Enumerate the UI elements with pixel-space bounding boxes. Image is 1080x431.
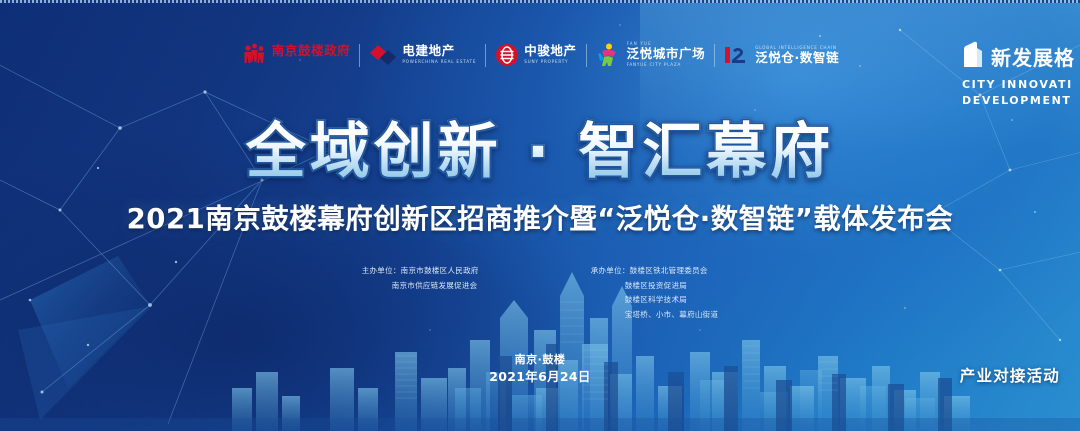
brand-label-cn: 新发展格 — [991, 42, 1075, 71]
logo-label-en: GLOBAL INTELLIGENCE CHAIN — [755, 46, 839, 50]
logo-label-en: NANJING GULOU DISTRICT — [272, 60, 351, 64]
sponsor-logo-bar: 南京鼓楼政府 NANJING GULOU DISTRICT 电建地产 POWER… — [0, 42, 1080, 68]
brand-city-innovation[interactable]: 新发展格 CITY INNOVATI DEVELOPMENT — [962, 40, 1080, 107]
logo-zhongjun[interactable]: 中骏地产 SUNY PROPERTY — [486, 43, 585, 67]
organizer-line: 鼓楼区投资促进局 — [591, 279, 719, 294]
top-edge-strip — [0, 0, 1080, 3]
event-date: 2021年6月24日 — [0, 368, 1080, 386]
logo-label-en: SUNY PROPERTY — [524, 60, 576, 64]
organizer-line: 鼓楼区科学技术局 — [591, 293, 719, 308]
logo-label-cn: 南京鼓楼政府 — [272, 45, 351, 58]
page-subtitle: 2021南京鼓楼幕府创新区招商推介暨“泛悦仓·数智链”载体发布会 — [0, 196, 1080, 236]
colorful-figure-icon — [596, 42, 622, 68]
organizer-line: 主办单位：南京市鼓楼区人民政府 — [362, 264, 479, 279]
twelve-mark-icon — [724, 44, 750, 66]
logo-label-cn: 泛悦城市广场 — [627, 48, 706, 61]
logo-label-cn: 泛悦仓·数智链 — [755, 52, 839, 65]
brand-label-en1: CITY INNOVATI — [962, 78, 1080, 91]
logo-label-pre: FAN YUE — [627, 42, 706, 46]
organizer-column-host: 主办单位：南京市鼓楼区人民政府 南京市供应链发展促进会 — [362, 264, 479, 323]
event-place: 南京·鼓楼 — [0, 352, 1080, 368]
figures-mark-icon — [241, 42, 267, 68]
logo-label-cn: 中骏地产 — [524, 45, 576, 58]
logo-label-cn: 电建地产 — [402, 45, 476, 58]
page-title: 全域创新 · 智汇幕府 — [246, 103, 835, 190]
corner-label: 产业对接活动 — [960, 364, 1060, 386]
logo-label-en: POWERCHINA REAL ESTATE — [402, 60, 476, 64]
logo-fanyue-shuzhi[interactable]: GLOBAL INTELLIGENCE CHAIN 泛悦仓·数智链 — [715, 44, 848, 66]
diamond-mark-icon — [369, 43, 397, 67]
organizer-line: 承办单位：鼓楼区铁北管理委员会 — [591, 264, 719, 279]
organizer-column-coorganizer: 承办单位：鼓楼区铁北管理委员会 鼓楼区投资促进局 鼓楼区科学技术局 宝塔桥、小市… — [591, 264, 719, 323]
logo-nanjing-gulou[interactable]: 南京鼓楼政府 NANJING GULOU DISTRICT — [232, 42, 360, 68]
organizer-block: 主办单位：南京市鼓楼区人民政府 南京市供应链发展促进会 承办单位：鼓楼区铁北管理… — [0, 264, 1080, 323]
logo-fanyue-plaza[interactable]: FAN YUE 泛悦城市广场 FANYUE CITY PLAZA — [587, 42, 715, 68]
logo-label-en: FANYUE CITY PLAZA — [627, 63, 706, 67]
circle-emblem-icon — [495, 43, 519, 67]
organizer-line: 南京市供应链发展促进会 — [362, 279, 479, 294]
event-banner: 南京鼓楼政府 NANJING GULOU DISTRICT 电建地产 POWER… — [0, 0, 1080, 431]
logo-powerchina[interactable]: 电建地产 POWERCHINA REAL ESTATE — [360, 43, 485, 67]
organizer-line: 宝塔桥、小市、幕府山街道 — [591, 308, 719, 323]
place-date-block: 南京·鼓楼 2021年6月24日 — [0, 352, 1080, 386]
main-title-block: 全域创新 · 智汇幕府 全域创新 · 智汇幕府 — [0, 103, 1080, 190]
building-mark-icon — [962, 40, 984, 72]
